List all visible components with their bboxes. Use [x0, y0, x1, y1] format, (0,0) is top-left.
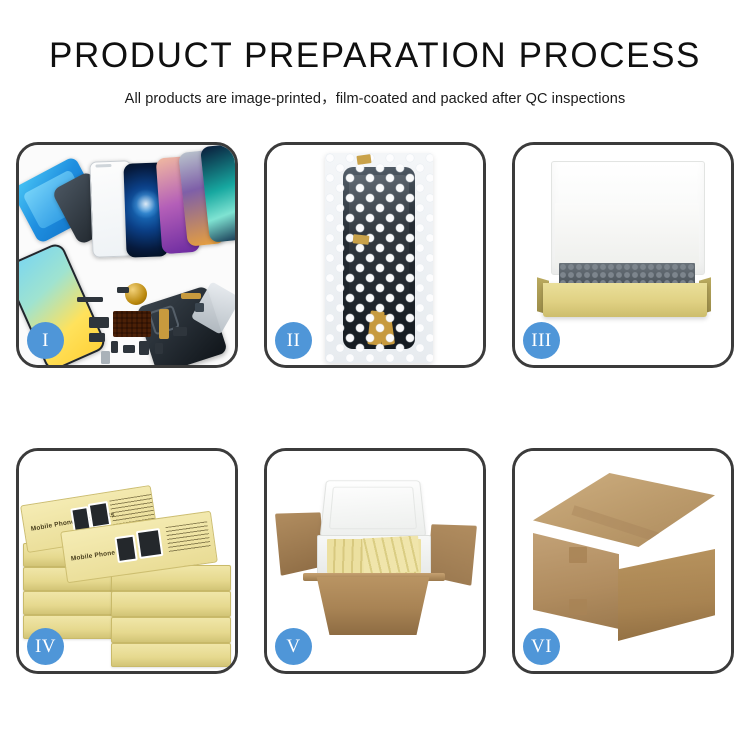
carton-front-panel-icon: [309, 577, 437, 635]
process-step-panel-6[interactable]: VI: [512, 448, 734, 674]
bubble-wrap-package-icon: [325, 153, 433, 363]
process-step-panel-2[interactable]: II: [264, 142, 486, 368]
process-step-panel-1[interactable]: I: [16, 142, 238, 368]
page-header: PRODUCT PREPARATION PROCESS All products…: [0, 0, 750, 108]
bubble-highlight-layer: [325, 153, 433, 363]
tape-strip-top-icon: [356, 154, 371, 165]
step-number-badge-3: III: [523, 322, 560, 359]
logic-board-icon: [113, 311, 151, 337]
foam-lid-icon: [320, 480, 427, 537]
packed-yellow-boxes-secondary-icon: [362, 536, 420, 575]
step-number-badge-4: IV: [27, 628, 64, 665]
white-foam-pad-icon: [555, 203, 699, 269]
step-number-badge-1: I: [27, 322, 64, 359]
process-step-panel-3[interactable]: III: [512, 142, 734, 368]
process-step-panel-5[interactable]: V: [264, 448, 486, 674]
page-subtitle: All products are image-printed，film-coat…: [0, 87, 750, 108]
page-title: PRODUCT PREPARATION PROCESS: [0, 38, 750, 73]
spare-parts-cluster: [77, 281, 235, 365]
step-number-badge-6: VI: [523, 628, 560, 665]
process-step-panel-4[interactable]: Mobile Phone Spare Parts Mobile Phone Sp…: [16, 448, 238, 674]
tape-strip-mid-icon: [353, 234, 370, 245]
process-step-grid: I II I: [16, 142, 738, 682]
step-number-badge-2: II: [275, 322, 312, 359]
yellow-box-front-icon: [543, 283, 707, 317]
step-number-badge-5: V: [275, 628, 312, 665]
